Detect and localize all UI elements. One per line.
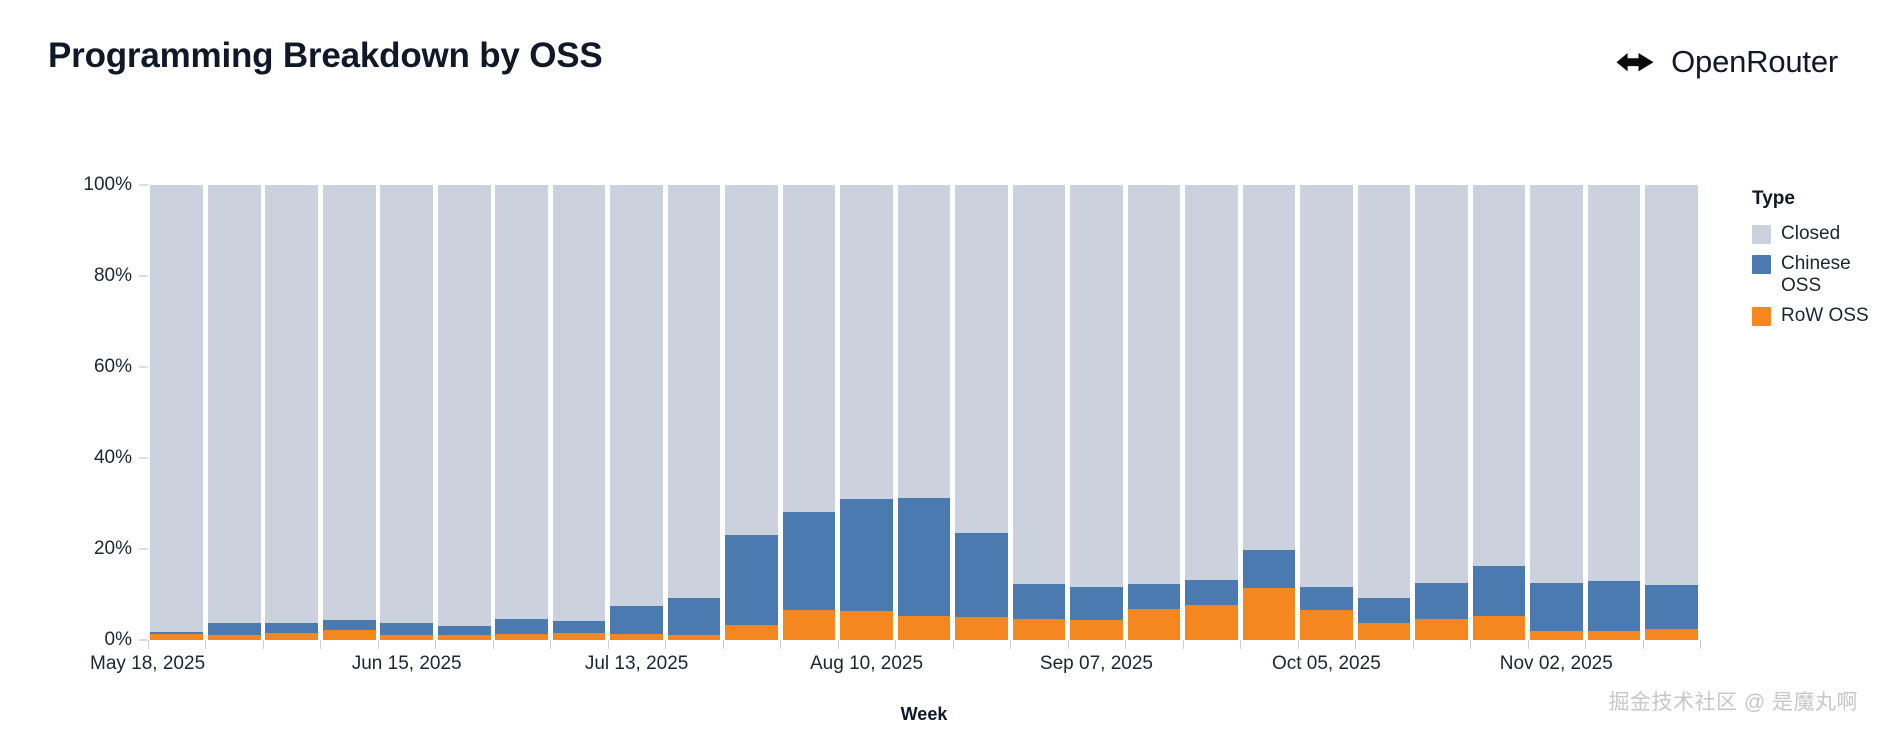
bar-column[interactable] [1413, 185, 1470, 640]
bar-segment[interactable] [898, 616, 951, 640]
x-axis-tick-mark [1413, 640, 1414, 649]
bar-segment[interactable] [840, 185, 893, 499]
bar-segment[interactable] [1128, 584, 1181, 609]
bar-segment[interactable] [323, 630, 376, 640]
bar-column[interactable] [1528, 185, 1585, 640]
y-axis-tick-mark [139, 185, 148, 186]
y-axis-tick-label: 100% [83, 174, 132, 196]
bar-segment[interactable] [553, 185, 606, 621]
legend-item-label: RoW OSS [1781, 305, 1869, 327]
x-axis-tick-label: Oct 05, 2025 [1272, 653, 1381, 675]
bar-segment[interactable] [668, 185, 721, 598]
bar-segment[interactable] [955, 617, 1008, 640]
y-axis-tick-mark [139, 549, 148, 550]
x-axis-tick-mark [1298, 640, 1299, 649]
x-axis-tick-mark [205, 640, 206, 649]
bar-segment[interactable] [208, 185, 261, 623]
bar-segment[interactable] [840, 611, 893, 640]
brand-name: OpenRouter [1671, 44, 1838, 80]
y-axis-tick-label: 40% [94, 447, 132, 469]
x-axis-tick-mark [435, 640, 436, 649]
bar-column[interactable] [493, 185, 550, 640]
bar-segment[interactable] [1645, 185, 1698, 585]
legend-title: Type [1752, 188, 1878, 210]
bar-column[interactable] [1240, 185, 1297, 640]
x-axis-tick-mark [1700, 640, 1701, 649]
y-axis-tick-label: 20% [94, 538, 132, 560]
bar-segment[interactable] [553, 633, 606, 640]
x-axis-tick-mark [895, 640, 896, 649]
bar-segment[interactable] [1243, 588, 1296, 640]
bar-column[interactable] [435, 185, 492, 640]
bar-column[interactable] [895, 185, 952, 640]
bar-segment[interactable] [1013, 185, 1066, 584]
bar-column[interactable] [263, 185, 320, 640]
bar-segment[interactable] [1588, 185, 1641, 581]
x-axis-tick-mark [723, 640, 724, 649]
bar-segment[interactable] [725, 625, 778, 640]
legend-items: ClosedChinese OSSRoW OSS [1752, 223, 1878, 326]
legend-swatch [1752, 225, 1771, 244]
bar-segment[interactable] [438, 626, 491, 634]
bar-column[interactable] [1183, 185, 1240, 640]
bar-column[interactable] [1068, 185, 1125, 640]
bar-segment[interactable] [1300, 587, 1353, 611]
bar-segment[interactable] [1473, 616, 1526, 640]
legend-item-label: Closed [1781, 223, 1840, 245]
y-axis-title: % Sum of Tokens [0, 284, 4, 433]
bar-segment[interactable] [1645, 585, 1698, 629]
bar-segment[interactable] [380, 185, 433, 623]
x-axis-tick-mark [1068, 640, 1069, 649]
bar-segment[interactable] [1530, 185, 1583, 583]
bar-segment[interactable] [725, 535, 778, 625]
bar-segment[interactable] [955, 185, 1008, 533]
x-axis-tick-mark [780, 640, 781, 649]
bar-column[interactable] [1298, 185, 1355, 640]
y-axis-tick-mark [139, 367, 148, 368]
bar-segment[interactable] [1013, 584, 1066, 619]
bar-segment[interactable] [668, 598, 721, 634]
bar-segment[interactable] [553, 621, 606, 633]
bar-segment[interactable] [955, 533, 1008, 617]
x-axis-tick-label: Nov 02, 2025 [1500, 653, 1613, 675]
bar-segment[interactable] [1070, 620, 1123, 640]
bar-segment[interactable] [380, 623, 433, 635]
x-axis-tick-mark [1585, 640, 1586, 649]
bar-segment[interactable] [1300, 185, 1353, 587]
x-axis-tick-label: Sep 07, 2025 [1040, 653, 1153, 675]
bar-segment[interactable] [1128, 609, 1181, 640]
y-axis-tick-mark [139, 458, 148, 459]
watermark: 掘金技术社区 @ 是魔丸啊 [1609, 686, 1859, 716]
x-axis-tick-mark [608, 640, 609, 649]
bar-segment[interactable] [495, 185, 548, 619]
bar-segment[interactable] [610, 606, 663, 634]
x-axis-tick-mark [838, 640, 839, 649]
x-axis-tick-mark [263, 640, 264, 649]
bar-segment[interactable] [265, 185, 318, 623]
bar-segment[interactable] [323, 620, 376, 630]
y-axis-tick-mark [139, 640, 148, 641]
bar-column[interactable] [1585, 185, 1642, 640]
bar-segment[interactable] [1185, 580, 1238, 605]
legend-item[interactable]: RoW OSS [1752, 305, 1878, 327]
bar-segment[interactable] [610, 185, 663, 606]
bar-column[interactable] [148, 185, 205, 640]
bar-segment[interactable] [1530, 583, 1583, 631]
page-title: Programming Breakdown by OSS [48, 36, 603, 76]
bar-segment[interactable] [1645, 629, 1698, 640]
brand-logo: OpenRouter [1613, 40, 1838, 84]
x-axis-tick-mark [1528, 640, 1529, 649]
bar-segment[interactable] [1415, 583, 1468, 619]
x-axis-tick-mark [665, 640, 666, 649]
x-axis-tick-mark [493, 640, 494, 649]
bar-column[interactable] [1470, 185, 1527, 640]
bar-segment[interactable] [1070, 587, 1123, 621]
bar-segment[interactable] [1588, 631, 1641, 640]
bar-segment[interactable] [1358, 185, 1411, 598]
bar-column[interactable] [378, 185, 435, 640]
bar-segment[interactable] [438, 185, 491, 626]
bar-segment[interactable] [208, 623, 261, 634]
x-axis-tick-mark [1240, 640, 1241, 649]
x-axis-tick-label: Aug 10, 2025 [810, 653, 923, 675]
x-axis-tick-mark [378, 640, 379, 649]
bar-column[interactable] [1010, 185, 1067, 640]
x-axis-tick-label: Jun 15, 2025 [352, 653, 462, 675]
x-axis-tick-mark [1125, 640, 1126, 649]
bar-column[interactable] [1643, 185, 1700, 640]
bar-segment[interactable] [150, 185, 203, 632]
y-axis-tick-label: 60% [94, 356, 132, 378]
x-axis: May 18, 2025Jun 15, 2025Jul 13, 2025Aug … [148, 640, 1700, 700]
x-axis-tick-mark [320, 640, 321, 649]
bar-segment[interactable] [495, 619, 548, 634]
bar-segment[interactable] [1243, 185, 1296, 550]
bar-segment[interactable] [1473, 566, 1526, 616]
bar-column[interactable] [1355, 185, 1412, 640]
bar-column[interactable] [953, 185, 1010, 640]
bar-segment[interactable] [1473, 185, 1526, 566]
bar-segment[interactable] [1358, 598, 1411, 623]
bar-segment[interactable] [323, 185, 376, 620]
openrouter-arrow-logo-icon [1613, 40, 1657, 84]
bar-segment[interactable] [265, 633, 318, 640]
bar-column[interactable] [320, 185, 377, 640]
bar-segment[interactable] [783, 610, 836, 640]
bar-column[interactable] [608, 185, 665, 640]
bar-series-container [148, 185, 1700, 640]
bar-segment[interactable] [783, 185, 836, 512]
bar-segment[interactable] [265, 623, 318, 633]
bar-column[interactable] [838, 185, 895, 640]
legend: Type ClosedChinese OSSRoW OSS [1752, 188, 1878, 334]
x-axis-tick-mark [953, 640, 954, 649]
x-axis-title: Week [148, 704, 1700, 725]
bar-segment[interactable] [1415, 185, 1468, 583]
bar-segment[interactable] [1128, 185, 1181, 584]
legend-item[interactable]: Closed [1752, 223, 1878, 245]
x-axis-tick-label: Jul 13, 2025 [585, 653, 689, 675]
bar-segment[interactable] [783, 512, 836, 610]
bar-segment[interactable] [1185, 605, 1238, 640]
plot-area [148, 185, 1700, 640]
bar-segment[interactable] [1588, 581, 1641, 631]
x-axis-tick-mark [1643, 640, 1644, 649]
bar-segment[interactable] [1185, 185, 1238, 580]
bar-segment[interactable] [1243, 550, 1296, 587]
bar-column[interactable] [723, 185, 780, 640]
x-axis-tick-mark [1355, 640, 1356, 649]
bar-segment[interactable] [725, 185, 778, 535]
legend-swatch [1752, 255, 1771, 274]
y-axis-tick-label: 80% [94, 265, 132, 287]
bar-column[interactable] [205, 185, 262, 640]
x-axis-tick-mark [1183, 640, 1184, 649]
y-axis: 0%20%40%60%80%100% [0, 185, 148, 640]
y-axis-tick-label: 0% [105, 629, 132, 651]
x-axis-tick-label: May 18, 2025 [90, 653, 205, 675]
bar-segment[interactable] [1415, 619, 1468, 640]
y-axis-tick-mark [139, 276, 148, 277]
legend-swatch [1752, 307, 1771, 326]
bar-segment[interactable] [1300, 610, 1353, 640]
bar-segment[interactable] [898, 498, 951, 616]
bar-column[interactable] [550, 185, 607, 640]
bar-segment[interactable] [1530, 631, 1583, 640]
x-axis-tick-mark [550, 640, 551, 649]
x-axis-tick-mark [1010, 640, 1011, 649]
x-axis-tick-mark [1470, 640, 1471, 649]
bar-column[interactable] [1125, 185, 1182, 640]
legend-item-label: Chinese OSS [1781, 253, 1878, 297]
x-axis-tick-mark [148, 640, 149, 649]
bar-segment[interactable] [1013, 619, 1066, 640]
bar-segment[interactable] [1070, 185, 1123, 587]
chart-page: Programming Breakdown by OSS OpenRouter … [0, 0, 1880, 734]
bar-segment[interactable] [840, 499, 893, 611]
bar-column[interactable] [665, 185, 722, 640]
bar-segment[interactable] [1358, 623, 1411, 640]
legend-item[interactable]: Chinese OSS [1752, 253, 1878, 297]
bar-column[interactable] [780, 185, 837, 640]
bar-segment[interactable] [898, 185, 951, 498]
